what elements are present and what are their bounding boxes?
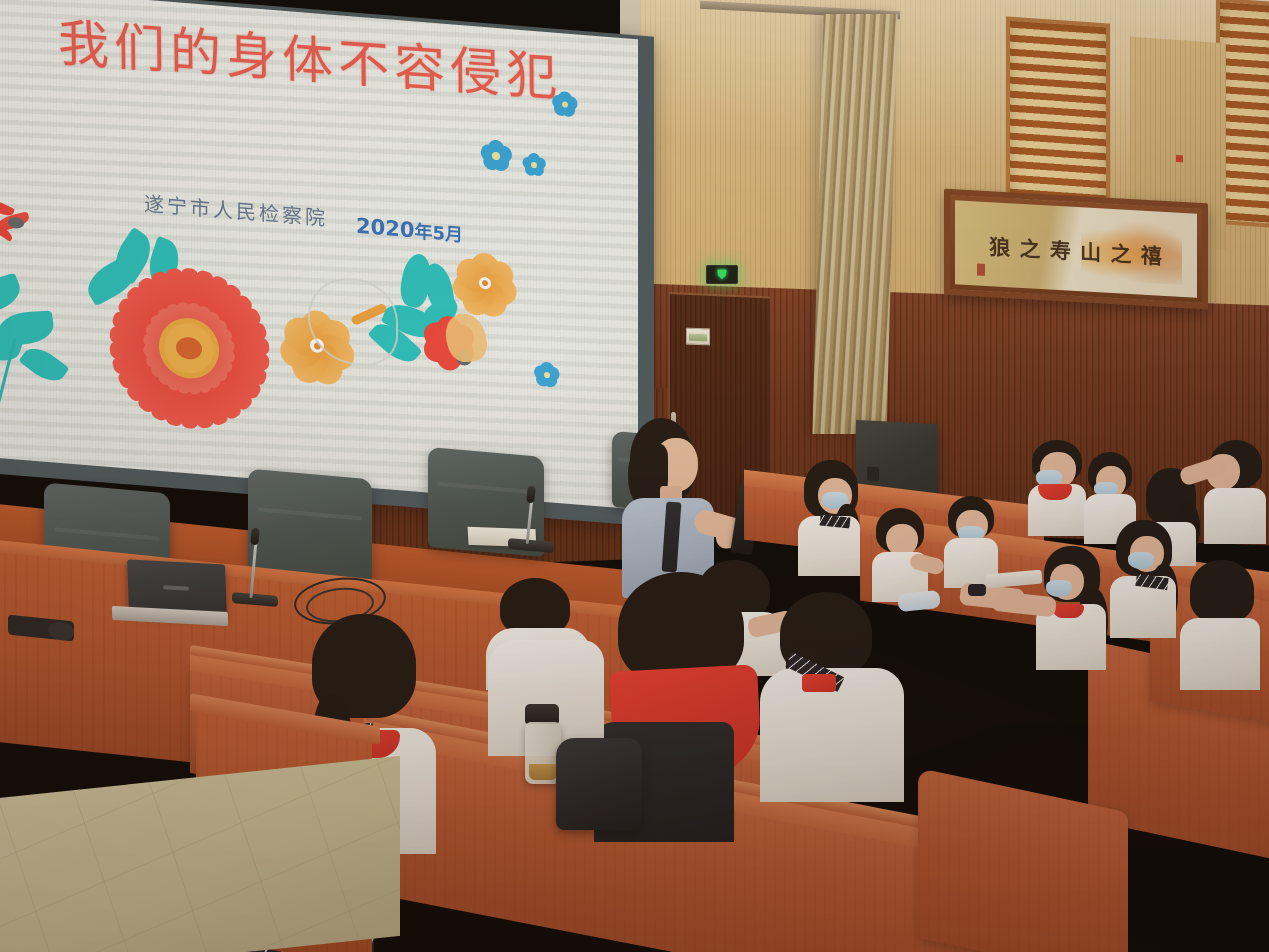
student-back-1 <box>1026 440 1092 536</box>
tile-floor <box>0 756 400 952</box>
red-gerbera-flower <box>100 252 278 444</box>
student-back-6 <box>872 508 932 602</box>
projection-screen-frame: 我们的身体不容侵犯 遂宁市人民检察院 2020年5月 <box>0 0 654 527</box>
calligraphy-artwork-frame: 狼 之 寿 山 之 禧 <box>944 189 1208 310</box>
student-hair <box>1190 560 1254 622</box>
student-shirt <box>1204 488 1266 544</box>
student-red-scarf <box>1052 604 1084 618</box>
door-notice-frame <box>686 328 710 346</box>
slide-date-year: 2020 <box>356 214 414 243</box>
emergency-exit-sign: ⛊ <box>706 265 738 284</box>
black-backpack[interactable] <box>556 738 642 830</box>
blue-forget-me-not-3 <box>522 152 546 178</box>
calligraphy-red-seal <box>977 263 985 275</box>
student-back-4 <box>1204 440 1269 544</box>
slide-date-suffix: 年5月 <box>414 221 463 246</box>
student-red-scarf <box>802 674 836 692</box>
student-shirt <box>1180 618 1260 690</box>
beige-pleated-curtain <box>813 14 898 434</box>
wall-red-marker <box>1176 155 1183 162</box>
blue-forget-me-not-1 <box>552 91 578 119</box>
slide-title: 我们的身体不容侵犯 <box>58 1 579 111</box>
door-notice-image <box>689 334 707 342</box>
slide-organization: 遂宁市人民检察院 <box>144 188 328 232</box>
blue-forget-me-not-4 <box>534 361 560 389</box>
student-back-7 <box>796 460 870 580</box>
student-mask <box>1046 580 1072 597</box>
conference-hall-photo: ⛊ 狼 之 寿 山 之 禧 我们的身体不容侵犯 遂宁市人民检察院 2020年5月 <box>0 0 1269 952</box>
water-bottle-cap[interactable] <box>525 704 559 724</box>
slide-date: 2020年5月 <box>356 213 463 248</box>
blue-forget-me-not-2 <box>480 139 512 174</box>
running-man-exit-icon: ⛊ <box>717 268 727 281</box>
student-mid-2 <box>1036 546 1116 670</box>
student-mid-3 <box>1180 560 1269 690</box>
student-mid-1 <box>1110 520 1184 638</box>
calligraphy-mat: 狼 之 寿 山 之 禧 <box>955 200 1197 298</box>
student-mask <box>1128 552 1154 569</box>
student-wristwatch <box>968 584 986 596</box>
projection-screen-surface: 我们的身体不容侵犯 遂宁市人民检察院 2020年5月 <box>0 0 638 509</box>
student-red-scarf <box>1038 484 1072 500</box>
swallow-bird-graphic <box>0 199 56 251</box>
